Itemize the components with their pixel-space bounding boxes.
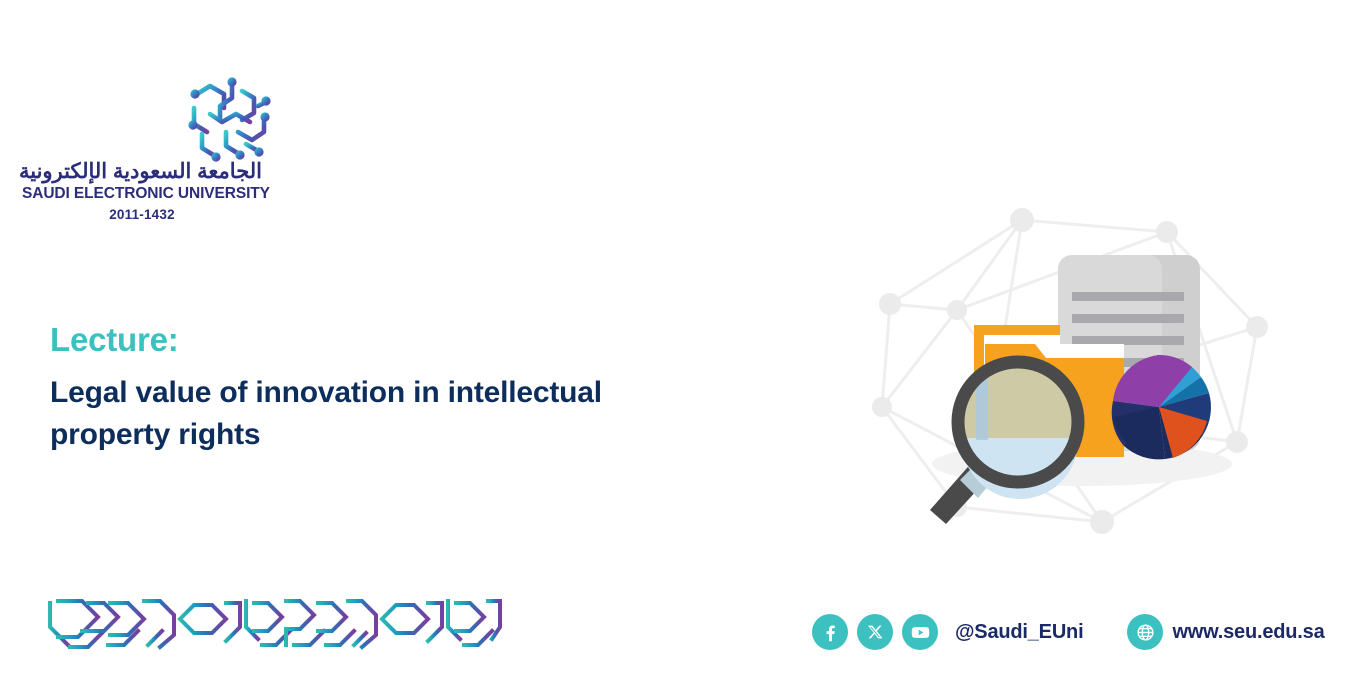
logo-year: 2011-1432: [22, 207, 262, 222]
slide-canvas: الجامعة السعودية الإلكترونية SAUDI ELECT…: [0, 0, 1345, 683]
website-url: www.seu.edu.sa: [1172, 621, 1324, 644]
youtube-icon[interactable]: [902, 614, 938, 650]
logo-arabic-name: الجامعة السعودية الإلكترونية: [22, 160, 262, 184]
logo-english-name: SAUDI ELECTRONIC UNIVERSITY: [22, 185, 262, 204]
lecture-label: Lecture:: [50, 322, 750, 358]
website-group[interactable]: www.seu.edu.sa: [1127, 614, 1324, 650]
seu-hexagon-circuit-logo-icon: [180, 72, 280, 170]
document-folder-search-illustration: [862, 192, 1282, 547]
logo-wordmark: الجامعة السعودية الإلكترونية SAUDI ELECT…: [22, 160, 262, 222]
x-twitter-icon[interactable]: [857, 614, 893, 650]
lecture-title-block: Lecture: Legal value of innovation in in…: [50, 322, 750, 455]
globe-icon[interactable]: [1127, 614, 1163, 650]
seu-circuit-pattern: [48, 597, 526, 653]
social-handle: @Saudi_EUni: [955, 621, 1083, 644]
page-title: Legal value of innovation in intellectua…: [50, 372, 700, 455]
footer-social-bar: @Saudi_EUni www.seu.edu.sa: [812, 610, 1325, 654]
facebook-icon[interactable]: [812, 614, 848, 650]
